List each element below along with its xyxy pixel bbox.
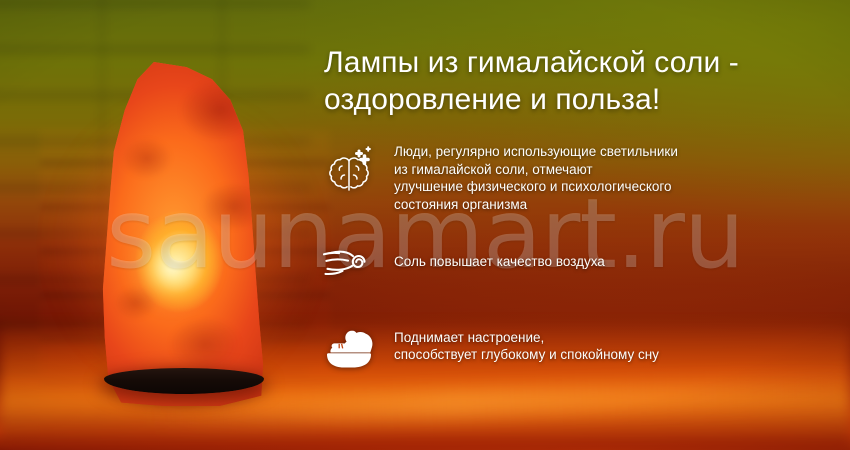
benefit-line: Люди, регулярно использующие светильники [394, 143, 678, 161]
salt-lamp-promo-banner: saunamart.ru Лампы из гималайской соли -… [0, 0, 850, 450]
headline-line-1: Лампы из гималайской соли - [324, 44, 824, 81]
benefit-text-wellbeing: Люди, регулярно использующие светильники… [394, 140, 678, 213]
headline-line-2: оздоровление и польза! [324, 81, 824, 118]
brain-sparkle-icon [318, 140, 380, 202]
sleeping-person-icon [318, 315, 380, 377]
benefit-item-sleep: Поднимает настроение, способствует глубо… [318, 315, 838, 377]
lamp-core-glow [124, 222, 220, 314]
salt-lamp-image [76, 62, 292, 422]
benefit-line: Поднимает настроение, [394, 329, 659, 347]
wind-swirl-icon [318, 231, 380, 293]
benefit-item-wellbeing: Люди, регулярно использующие светильники… [318, 140, 838, 213]
benefit-line: способствует глубокому и спокойному сну [394, 346, 659, 364]
benefit-text-sleep: Поднимает настроение, способствует глубо… [394, 329, 659, 364]
benefit-item-air-quality: Соль повышает качество воздуха [318, 231, 838, 293]
content-column: Лампы из гималайской соли - оздоровление… [318, 44, 838, 385]
page-title: Лампы из гималайской соли - оздоровление… [324, 44, 824, 118]
benefit-line: состояния организма [394, 196, 678, 214]
benefit-line: улучшение физического и психологического [394, 178, 678, 196]
benefit-line: из гималайской соли, отмечают [394, 161, 678, 179]
benefit-line: Соль повышает качество воздуха [394, 253, 605, 271]
benefit-text-air-quality: Соль повышает качество воздуха [394, 253, 605, 271]
